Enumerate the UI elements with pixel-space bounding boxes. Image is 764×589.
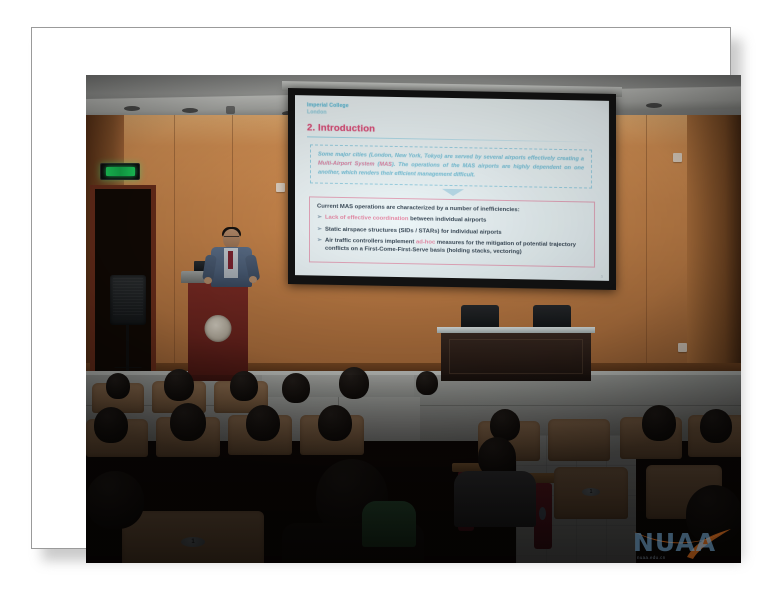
seat-back: [548, 419, 610, 461]
slide-bullet-box: Current MAS operations are characterized…: [309, 197, 595, 268]
slide-quote-box: Some major cities (London, New York, Tok…: [310, 144, 592, 188]
audience-head: [642, 405, 676, 441]
bullet-text: Lack of effective coordination between i…: [325, 214, 486, 226]
audience-head: [246, 405, 280, 441]
university-emblem: [205, 315, 232, 342]
head-table-chair: [461, 305, 499, 329]
presenter-right-hand: [249, 276, 257, 283]
head-table-panel-inset: [449, 339, 583, 374]
bullet-text: Air traffic controllers implement ad-hoc…: [325, 236, 587, 258]
slide-bullet-item: ➢ Air traffic controllers implement ad-h…: [317, 236, 587, 258]
ceiling-vent-icon: [226, 106, 235, 114]
audience-head: [282, 373, 310, 403]
audience-seating: 3: [86, 375, 741, 563]
audience-head: [106, 373, 130, 399]
lecture-hall-scene: Imperial College London 2. Introduction …: [86, 75, 741, 563]
exit-sign: [100, 163, 140, 180]
ceiling-light: [124, 106, 140, 111]
presenter: [203, 229, 259, 295]
seat-number-plate: 1: [181, 537, 205, 547]
auditorium-seat: 1: [554, 467, 628, 519]
presenter-tie: [228, 251, 233, 269]
wall-switch-plate[interactable]: [673, 153, 682, 162]
pa-speaker-cabinet: [110, 275, 146, 325]
wall-switch-plate[interactable]: [276, 183, 285, 192]
pa-loudspeaker: [110, 275, 146, 325]
presenter-glasses: [224, 236, 239, 240]
seat-number-plate: 1: [582, 488, 600, 496]
audience-head: [700, 409, 732, 443]
head-table-front-panel: [441, 333, 591, 381]
bullet-highlight: Lack of effective coordination: [325, 215, 408, 223]
audience-head: [230, 371, 258, 401]
pa-speaker-stand: [126, 325, 129, 371]
ceiling-light: [646, 103, 662, 108]
quote-emphasis-1: Multi-Airport System: [318, 161, 375, 168]
audience-head: [318, 405, 352, 441]
auditorium-seat: [548, 419, 610, 461]
seat-side-emblem: [539, 507, 546, 520]
auditorium-seat: 1: [122, 511, 264, 563]
imperial-college-logo: Imperial College London: [307, 102, 599, 121]
bullet-marker-icon: ➢: [317, 214, 322, 223]
bullet-text: Static airspace structures (SIDs / STARs…: [325, 225, 502, 237]
seat-back: 1: [122, 511, 264, 563]
photo-page: Imperial College London 2. Introduction …: [0, 0, 764, 589]
audience-shoulders: [362, 501, 416, 547]
seat-back: 1: [554, 467, 628, 519]
ceiling-light: [182, 108, 198, 113]
audience-head: [86, 471, 144, 529]
audience-shoulders: [454, 471, 536, 527]
bullet-highlight: ad-hoc: [416, 239, 435, 245]
bullet-marker-icon: ➢: [317, 225, 322, 234]
wall-switch-plate[interactable]: [678, 343, 687, 352]
photo-frame: Imperial College London 2. Introduction …: [31, 27, 731, 549]
bullet-pre: Air traffic controllers implement: [325, 237, 416, 245]
presentation-slide: Imperial College London 2. Introduction …: [295, 95, 609, 281]
audience-head: [339, 367, 369, 399]
photograph: Imperial College London 2. Introduction …: [86, 75, 741, 563]
slide-page-number: 5: [601, 275, 603, 279]
quote-emphasis-2: MAS: [379, 162, 391, 168]
exit-sign-glow-icon: [106, 167, 135, 176]
audience-head: [416, 371, 438, 395]
pa-speaker-grille: [113, 278, 143, 317]
lectern-body: [188, 283, 248, 381]
bullet-post: between individual airports: [408, 217, 486, 224]
bullet-marker-icon: ➢: [317, 236, 322, 253]
presenter-left-hand: [204, 277, 212, 284]
audience-head: [94, 407, 128, 443]
wall-panel-seam: [174, 115, 175, 373]
right-wall-return: [687, 115, 741, 377]
head-table: [441, 327, 591, 381]
bullet-pre: Static airspace structures (SIDs / STARs…: [325, 226, 502, 235]
head-table-chair: [533, 305, 571, 329]
audience-head: [170, 403, 206, 441]
projector-screen: Imperial College London 2. Introduction …: [288, 88, 616, 290]
wall-panel-seam: [646, 115, 647, 377]
downward-arrow-icon: [442, 189, 464, 196]
audience-head: [164, 369, 194, 401]
audience-head: [686, 485, 741, 543]
